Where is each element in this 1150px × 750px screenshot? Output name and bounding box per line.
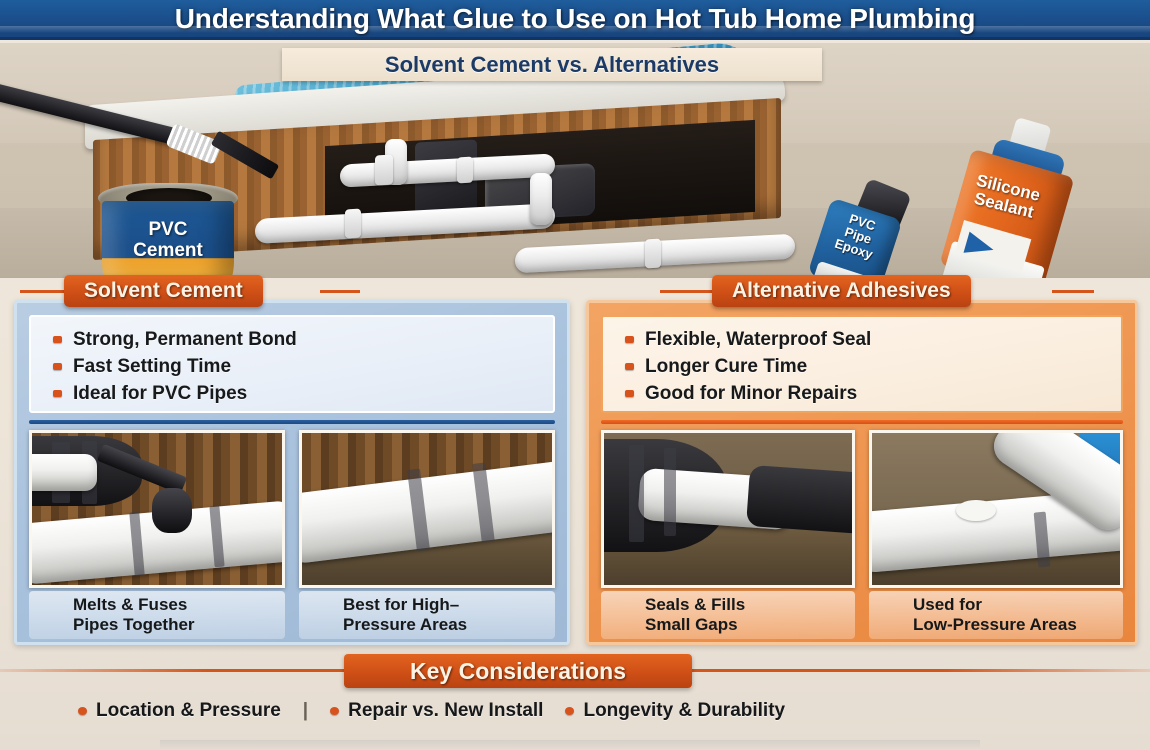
can-label-line2: Cement — [102, 240, 234, 261]
footer-shadow — [160, 740, 980, 750]
bullet-box-solvent-cement: Strong, Permanent Bond Fast Setting Time… — [29, 315, 555, 413]
bullet-square-icon — [53, 336, 62, 343]
list-item: Longer Cure Time — [625, 353, 1121, 380]
badge-rule-right-tail — [1052, 290, 1094, 293]
silicone-sealant-tube: Silicone Sealant — [948, 123, 1088, 278]
caption-line-2: Low-Pressure Areas — [913, 615, 1123, 635]
caption-line-2: Pressure Areas — [343, 615, 555, 635]
bullet-dot-icon — [565, 707, 574, 715]
caption-row-left: Melts & Fuses Pipes Together Best for Hi… — [29, 591, 555, 639]
pipe-collar — [375, 155, 393, 186]
pipe-collar — [457, 157, 473, 184]
caption-line-1: Used for — [913, 595, 1123, 615]
caption-best-for-high-pressure: Best for High– Pressure Areas — [299, 591, 555, 639]
photo-applicator-dauber — [152, 488, 192, 534]
list-item: Flexible, Waterproof Seal — [625, 326, 1121, 353]
list-item: Strong, Permanent Bond — [53, 326, 553, 353]
key-considerations-items: Location & Pressure | Repair vs. New Ins… — [78, 700, 807, 722]
photo-caulking-gun-sealant — [869, 430, 1123, 588]
key-considerations-label: Key Considerations — [410, 658, 626, 685]
can-label-line1: PVC — [102, 219, 234, 240]
bullet-square-icon — [53, 363, 62, 370]
panel-solvent-cement: Strong, Permanent Bond Fast Setting Time… — [14, 300, 570, 645]
bullet-label: Good for Minor Repairs — [645, 380, 857, 407]
bullet-label: Strong, Permanent Bond — [73, 326, 297, 353]
photo-pipe-ring — [629, 445, 644, 542]
bullet-dot-icon — [78, 707, 87, 715]
key-considerations-badge: Key Considerations — [344, 654, 692, 688]
key-item-label: Longevity & Durability — [583, 700, 785, 722]
section-badge-label: Solvent Cement — [84, 279, 243, 303]
pipe-collar — [645, 239, 661, 269]
caption-line-1: Best for High– — [343, 595, 555, 615]
key-item-label: Location & Pressure — [96, 700, 281, 722]
photo-black-fitting — [746, 465, 855, 534]
subtitle-text: Solvent Cement vs. Alternatives — [385, 52, 719, 78]
can-body: PVC Cement — [102, 201, 234, 278]
photo-sealant-bead — [956, 500, 996, 521]
panel-divider — [601, 420, 1123, 424]
caption-line-1: Melts & Fuses — [73, 595, 285, 615]
bullet-label: Flexible, Waterproof Seal — [645, 326, 871, 353]
bullet-label: Ideal for PVC Pipes — [73, 380, 247, 407]
photo-row-right — [601, 430, 1123, 588]
pipe-collar — [345, 209, 361, 239]
panel-alternative-adhesives: Flexible, Waterproof Seal Longer Cure Ti… — [586, 300, 1138, 645]
bullet-list: Strong, Permanent Bond Fast Setting Time… — [53, 326, 553, 407]
photo-joined-pvc-pipe — [299, 430, 555, 588]
bullet-label: Longer Cure Time — [645, 353, 807, 380]
header-sheen — [0, 26, 1150, 33]
caption-line-2: Small Gaps — [645, 615, 855, 635]
list-item: Fast Setting Time — [53, 353, 553, 380]
key-considerations-section: Key Considerations Location & Pressure |… — [0, 650, 1150, 750]
pvc-cement-can: PVC Cement — [98, 183, 238, 278]
bullet-label: Fast Setting Time — [73, 353, 231, 380]
photo-row-left — [29, 430, 555, 588]
key-separator: | — [303, 700, 308, 722]
list-item: Good for Minor Repairs — [625, 380, 1121, 407]
photo-epoxy-on-pipe-coupling — [601, 430, 855, 588]
bullet-box-alternative-adhesives: Flexible, Waterproof Seal Longer Cure Ti… — [601, 315, 1123, 413]
photo-pvc-pipe — [29, 454, 97, 490]
bullet-square-icon — [625, 363, 634, 370]
bullet-list: Flexible, Waterproof Seal Longer Cure Ti… — [625, 326, 1121, 407]
photo-applying-cement-to-pipe — [29, 430, 285, 588]
caption-seals-and-fills: Seals & Fills Small Gaps — [601, 591, 855, 639]
caption-line-2: Pipes Together — [73, 615, 285, 635]
header-bar: Understanding What Glue to Use on Hot Tu… — [0, 0, 1150, 40]
section-badge-label: Alternative Adhesives — [732, 279, 951, 303]
badge-rule-left-tail — [320, 290, 360, 293]
bullet-square-icon — [53, 390, 62, 397]
infographic-root: Understanding What Glue to Use on Hot Tu… — [0, 0, 1150, 750]
hero-image-hot-tub-plumbing: PVC Cement PVC Pipe Epoxy — [0, 43, 1150, 278]
list-item: Longevity & Durability — [565, 700, 785, 722]
photo-pipe-ring — [664, 448, 676, 536]
pvc-pipe-epoxy-bottle: PVC Pipe Epoxy — [818, 185, 910, 278]
panel-divider — [29, 420, 555, 424]
caption-melts-and-fuses: Melts & Fuses Pipes Together — [29, 591, 285, 639]
caption-line-1: Seals & Fills — [645, 595, 855, 615]
section-badge-alternative-adhesives: Alternative Adhesives — [712, 275, 971, 307]
list-item: Ideal for PVC Pipes — [53, 380, 553, 407]
key-item-label: Repair vs. New Install — [348, 700, 543, 722]
subtitle-banner: Solvent Cement vs. Alternatives — [282, 48, 822, 81]
list-item: Repair vs. New Install — [330, 700, 543, 722]
list-item: Location & Pressure — [78, 700, 281, 722]
pvc-pipe-segment — [530, 173, 552, 225]
section-badge-solvent-cement: Solvent Cement — [64, 275, 263, 307]
bullet-dot-icon — [330, 707, 339, 715]
badge-rule-right — [660, 290, 720, 293]
caption-row-right: Seals & Fills Small Gaps Used for Low-Pr… — [601, 591, 1123, 639]
caption-used-for-low-pressure: Used for Low-Pressure Areas — [869, 591, 1123, 639]
bullet-square-icon — [625, 390, 634, 397]
bullet-square-icon — [625, 336, 634, 343]
